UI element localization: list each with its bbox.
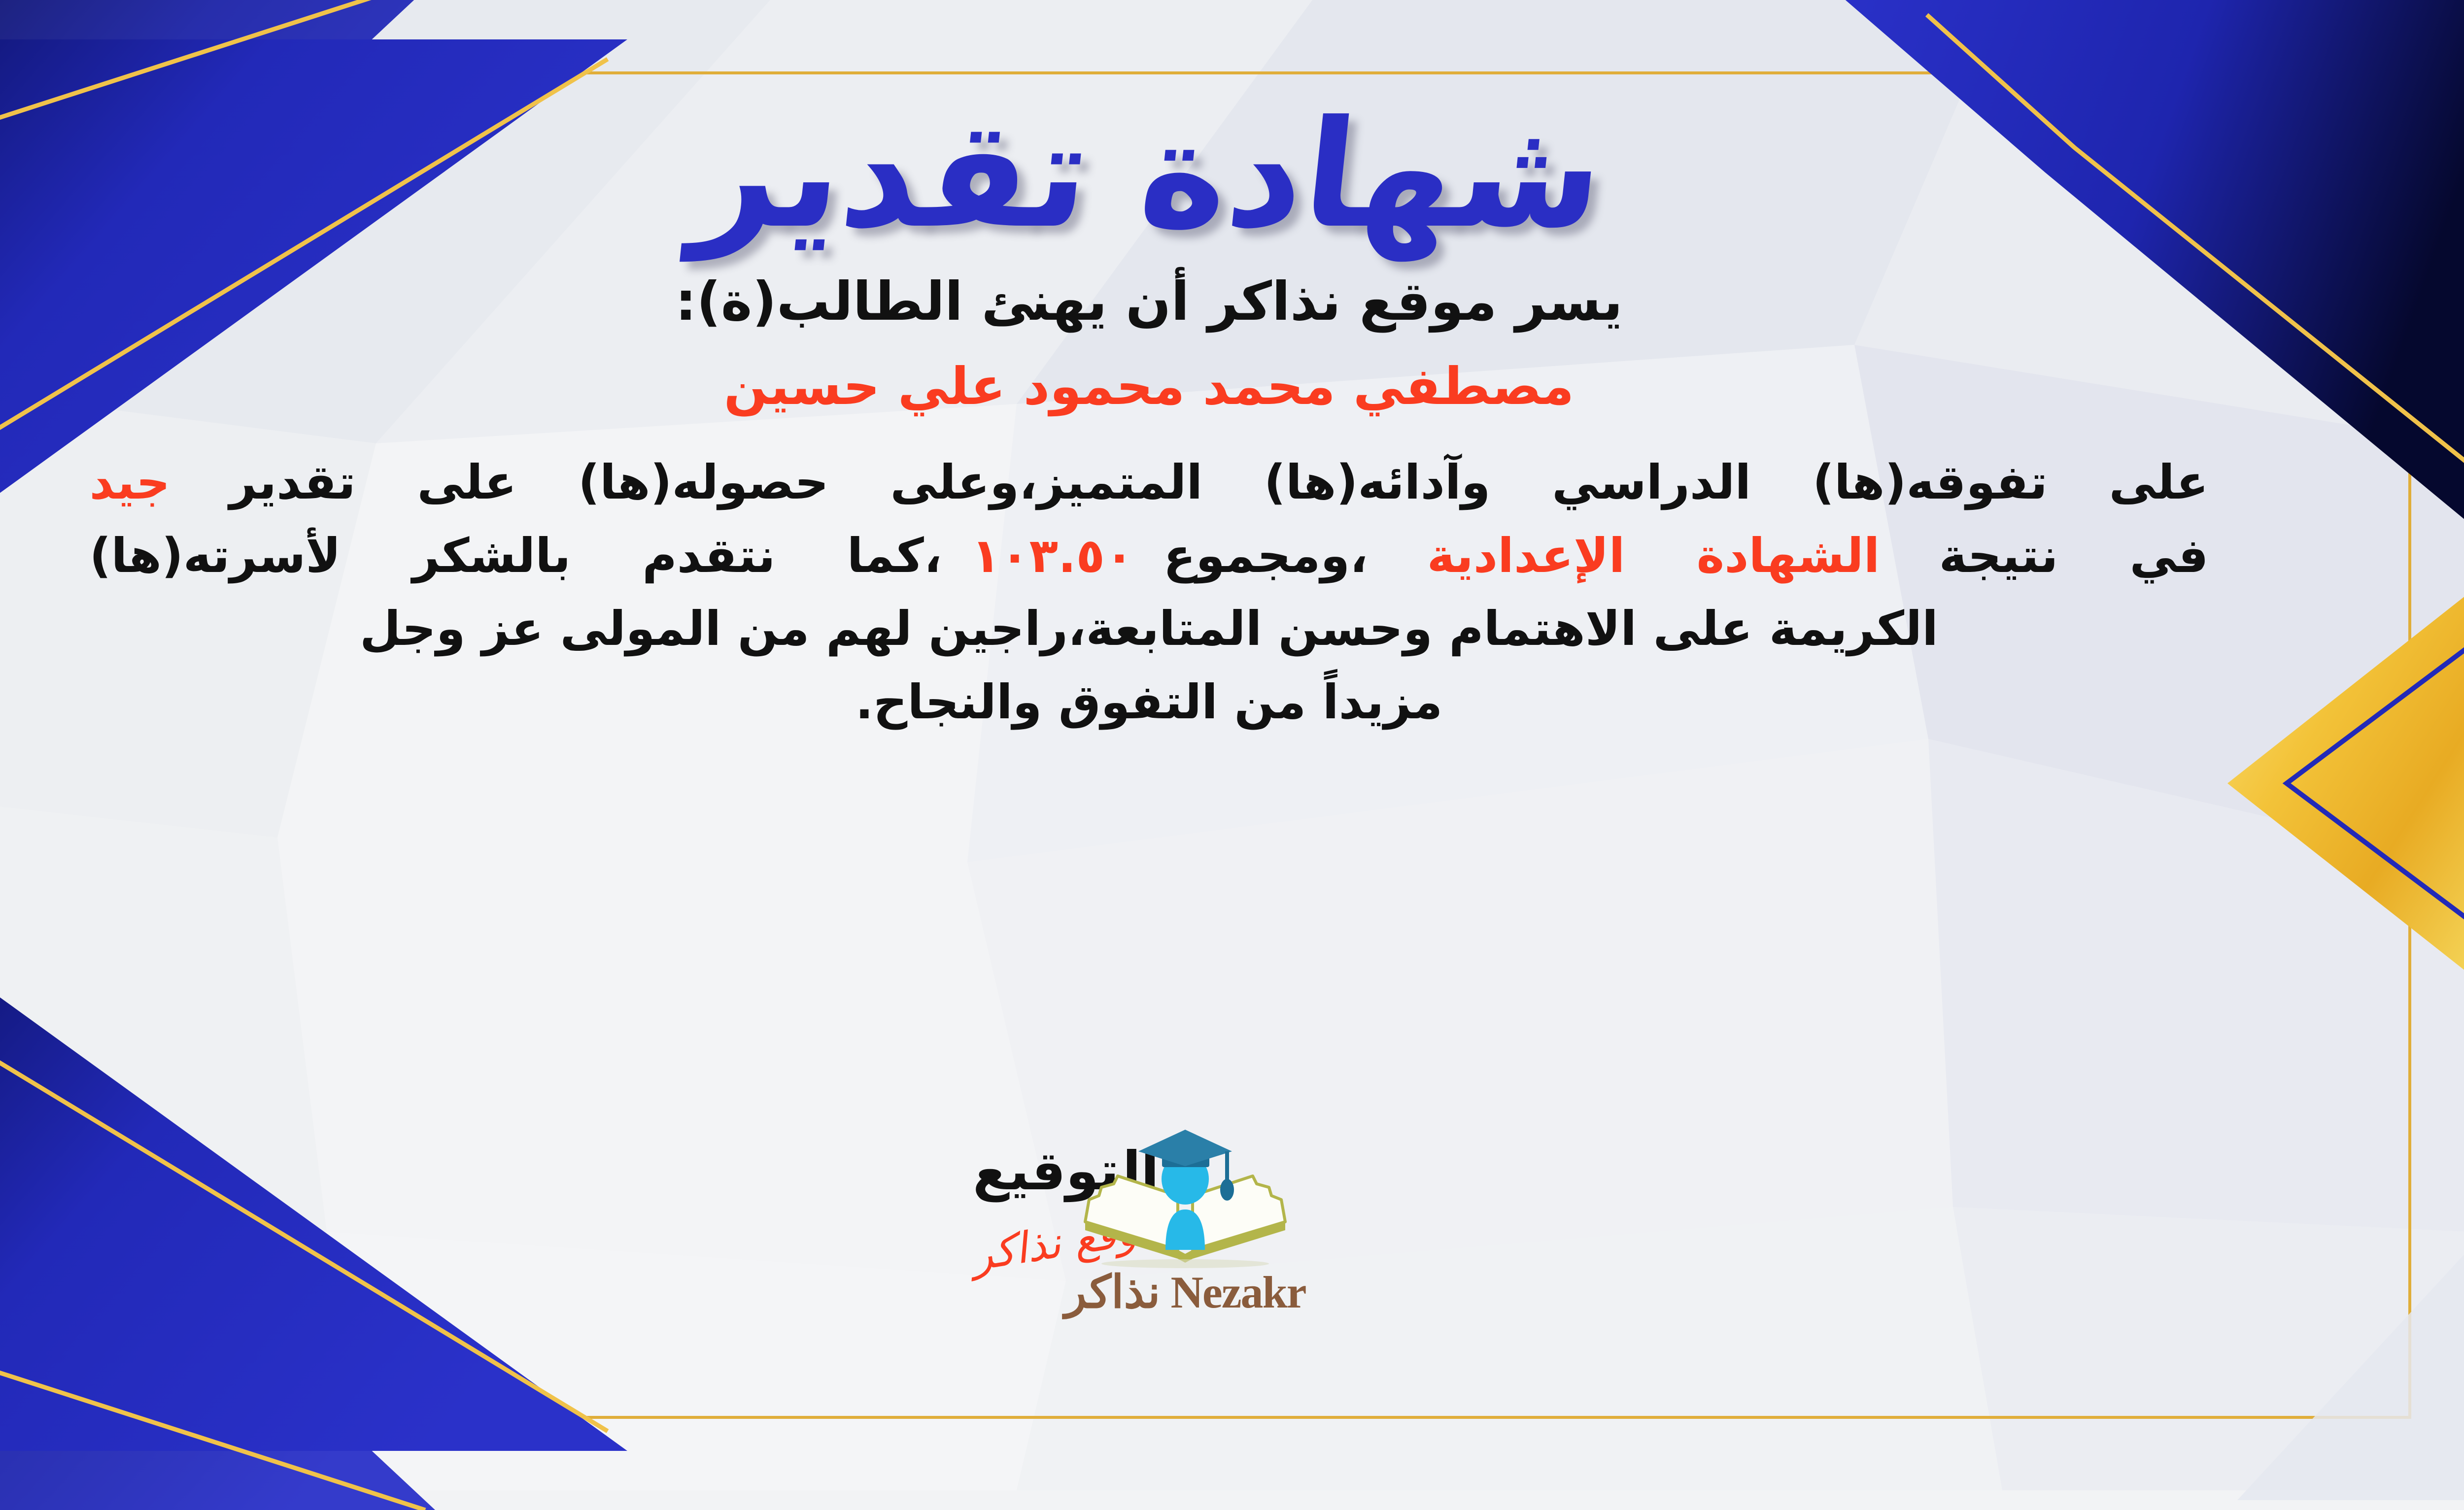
total-prefix: ،ومجموع xyxy=(1164,528,1368,583)
achievement-line-family: الكريمة على الاهتمام وحسن المتابعة،راجين… xyxy=(90,592,2209,666)
achievement-paragraph: على تفوقه(ها) الدراسي وآدائه(ها) المتميز… xyxy=(90,446,2209,739)
certificate-body: يسر موقع نذاكر أن يهنئ الطالب(ة): مصطفي … xyxy=(90,268,2209,739)
nezakr-logo: Nezakr نذاكر xyxy=(981,1121,1390,1318)
exam-name: الشهادة الإعدادية xyxy=(1427,528,1880,583)
achievement-text-a: على تفوقه(ها) الدراسي وآدائه(ها) المتميز… xyxy=(229,455,2208,510)
intro-line: يسر موقع نذاكر أن يهنئ الطالب(ة): xyxy=(90,268,2209,335)
logo-wordmark: Nezakr نذاكر xyxy=(981,1266,1390,1318)
student-name: مصطفي محمد محمود علي حسين xyxy=(90,356,2209,417)
achievement-line-closing: مزيداً من التفوق والنجاح. xyxy=(90,666,2209,739)
achievement-line-grade: على تفوقه(ها) الدراسي وآدائه(ها) المتميز… xyxy=(90,446,2209,519)
achievement-line-exam: في نتيجةالشهادة الإعدادية،ومجموع١٠٣.٥٠،ك… xyxy=(90,519,2209,593)
certificate-title: شهادة تقدير xyxy=(687,101,1611,249)
graduation-book-icon xyxy=(1079,1121,1291,1269)
exam-prefix: في نتيجة xyxy=(1939,528,2209,583)
total-score: ١٠٣.٥٠ xyxy=(971,528,1133,583)
thanks-text: ،كما نتقدم بالشكر لأسرته(ها) xyxy=(90,528,942,583)
certificate-footer: التوقيع موقع نذاكر Nezakr نذاكر xyxy=(0,1121,2411,1416)
grade-value: جيد xyxy=(90,455,171,510)
